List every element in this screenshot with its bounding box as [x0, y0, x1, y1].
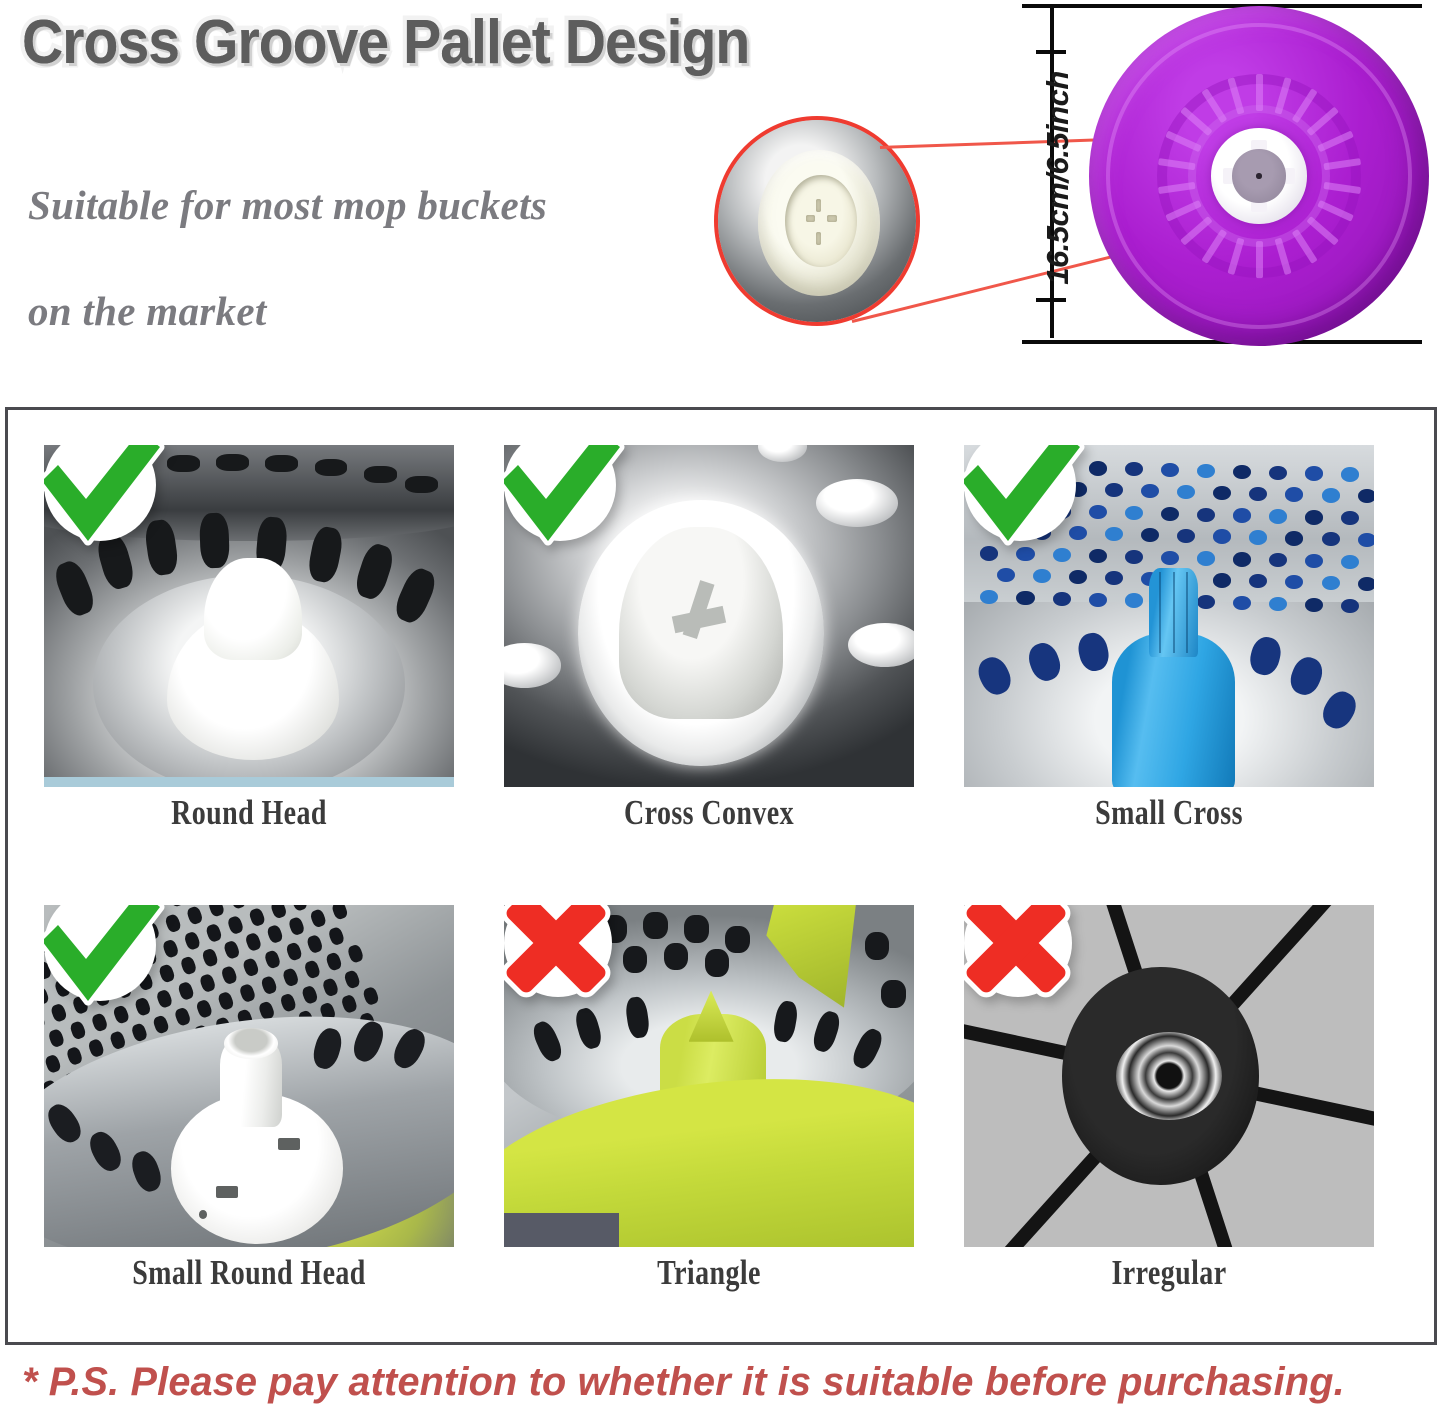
compat-item-small-cross: Small Cross	[964, 445, 1374, 855]
small-round-head-spindle-photo	[44, 905, 454, 1247]
pallet-lid-image	[1089, 6, 1429, 346]
photo-art	[44, 905, 454, 1247]
compat-item-label: Small Cross	[1005, 793, 1333, 833]
dimension-label: 16.5cm/6.5inch	[1040, 58, 1076, 298]
groove-west	[806, 215, 815, 222]
photo-corner-shadow	[504, 1213, 619, 1247]
dimension-line-top	[1022, 4, 1422, 8]
compat-item-round-head: Round Head	[44, 445, 454, 855]
groove-east	[827, 215, 836, 222]
spindle-round-head	[204, 558, 302, 661]
dimension-cap-bottom	[1036, 298, 1066, 302]
spindle-cross-convex-head	[619, 527, 783, 719]
product-infographic: Cross Groove Pallet Design Cross Groove …	[0, 0, 1445, 1422]
triangle-spindle-photo	[504, 905, 914, 1247]
hub-screw	[1116, 1032, 1223, 1121]
groove-north	[816, 199, 821, 212]
dimension-cap-top	[1036, 50, 1066, 54]
irregular-spindle-photo	[964, 905, 1374, 1247]
lid-center-hub	[1211, 128, 1306, 223]
magnifier-hub-inner	[785, 175, 856, 268]
compatibility-panel: Round Head	[5, 407, 1437, 1345]
page-title: Cross Groove Pallet Design	[22, 8, 749, 78]
compat-item-small-round-head: Small Round Head	[44, 905, 454, 1315]
photo-art	[964, 905, 1374, 1247]
photo-art	[504, 445, 914, 787]
header-subtitle: Suitable for most mop buckets on the mar…	[28, 152, 728, 364]
lid-hub-inner	[1232, 149, 1285, 202]
compat-item-triangle: Triangle	[504, 905, 914, 1315]
spindle-small-round-head	[224, 1028, 277, 1059]
photo-edge-tint	[44, 777, 454, 787]
photo-art	[964, 445, 1374, 787]
compatibility-grid: Round Head	[44, 445, 1404, 1315]
photo-art	[44, 445, 454, 787]
compat-item-cross-convex: Cross Convex	[504, 445, 914, 855]
round-head-spindle-photo	[44, 445, 454, 787]
subtitle-line-2: on the market	[28, 258, 728, 364]
compat-item-label: Small Round Head	[85, 1253, 413, 1293]
drum-wall	[44, 445, 454, 541]
header-section: Cross Groove Pallet Design Cross Groove …	[0, 0, 1010, 360]
dimension-diagram: 16.5cm/6.5inch	[1014, 0, 1445, 360]
compat-item-label: Irregular	[1005, 1253, 1333, 1293]
compat-item-label: Round Head	[85, 793, 413, 833]
compat-item-label: Cross Convex	[545, 793, 873, 833]
small-cross-spindle-photo	[964, 445, 1374, 787]
cross-convex-spindle-photo	[504, 445, 914, 787]
photo-art	[504, 905, 914, 1247]
compat-item-irregular: Irregular	[964, 905, 1374, 1315]
compat-item-label: Triangle	[545, 1253, 873, 1293]
footer-note: * P.S. Please pay attention to whether i…	[22, 1360, 1418, 1405]
spindle-small-cross-tip	[1149, 568, 1198, 657]
lid-hub-center-dot	[1256, 173, 1261, 178]
groove-south	[816, 232, 821, 245]
subtitle-line-1: Suitable for most mop buckets	[28, 182, 547, 228]
